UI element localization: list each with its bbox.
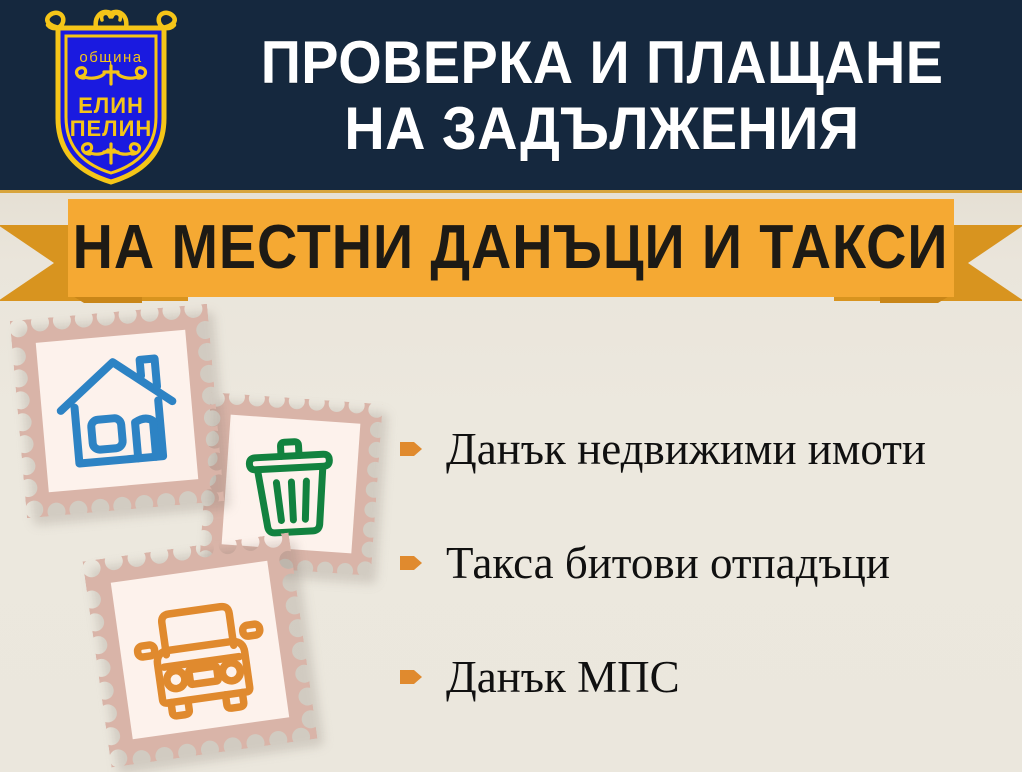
municipality-crest-logo: община ЕЛИН ПЕЛИН: [38, 6, 184, 188]
ribbon-main-panel: НА МЕСТНИ ДАНЪЦИ И ТАКСИ: [68, 199, 954, 297]
arrow-bullet-icon: [398, 550, 424, 576]
list-item-label: Такса битови отпадъци: [446, 538, 890, 588]
list-item[interactable]: Данък МПС: [398, 648, 1010, 706]
stamp-body: [83, 533, 318, 768]
poster-canvas: община ЕЛИН ПЕЛИН: [0, 0, 1022, 772]
ribbon-banner: НА МЕСТНИ ДАНЪЦИ И ТАКСИ: [0, 193, 1022, 311]
stamp-frame-icon: [83, 533, 318, 768]
title-line-1: ПРОВЕРКА И ПЛАЩАНЕ: [261, 31, 944, 95]
arrow-bullet-icon: [398, 436, 424, 462]
stamp-body: [10, 304, 225, 519]
page-title: ПРОВЕРКА И ПЛАЩАНЕ НА ЗАДЪЛЖЕНИЯ: [196, 16, 1008, 176]
stamp-card-property-tax: [10, 304, 225, 519]
header-bar: община ЕЛИН ПЕЛИН: [0, 0, 1022, 193]
svg-text:ЕЛИН: ЕЛИН: [78, 93, 144, 118]
stamp-frame-icon: [10, 304, 225, 519]
list-item-label: Данък недвижими имоти: [446, 424, 926, 474]
services-list: Данък недвижими имоти Такса битови отпад…: [398, 420, 1010, 706]
title-line-2: НА ЗАДЪЛЖЕНИЯ: [344, 97, 859, 161]
svg-text:ПЕЛИН: ПЕЛИН: [70, 116, 153, 141]
arrow-bullet-icon: [398, 664, 424, 690]
svg-text:община: община: [79, 49, 142, 66]
stamp-card-vehicle-tax: [83, 533, 318, 768]
crest-icon: община ЕЛИН ПЕЛИН: [38, 6, 184, 188]
list-item-label: Данък МПС: [446, 652, 680, 702]
list-item[interactable]: Такса битови отпадъци: [398, 534, 1010, 592]
list-item[interactable]: Данък недвижими имоти: [398, 420, 1010, 478]
ribbon-label: НА МЕСТНИ ДАНЪЦИ И ТАКСИ: [73, 217, 949, 279]
